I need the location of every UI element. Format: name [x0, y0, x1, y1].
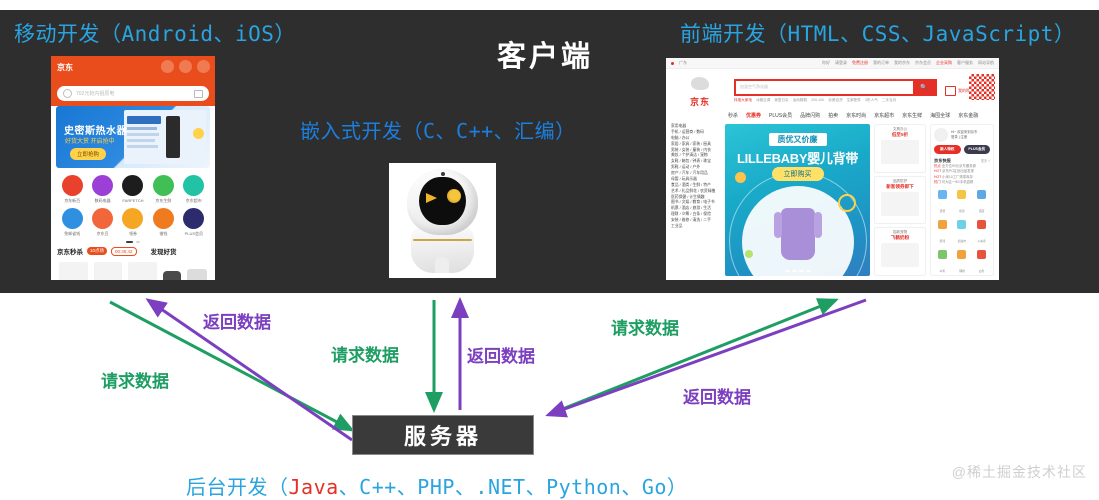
pc-nav: 秒杀 优惠券 PLUS会员 品牌闪购 拍卖 京东时尚 京东超市 京东生鲜 海囤全… [666, 112, 999, 124]
pc-brand-logo[interactable]: 京东 [674, 73, 726, 108]
pc-quick-link[interactable]: 游戏 [934, 220, 951, 247]
pc-topbar-link[interactable]: 你好 [822, 60, 830, 66]
pc-main-content: 家用电器 手机 / 运营商 / 数码 电脑 / 办公 家居 / 家具 / 家装 … [666, 124, 999, 276]
mobile-product-row: ¥49 ¥69 ¥1099 ¥2799 ¥2399 ¥3299 [51, 256, 215, 280]
pc-nav-item[interactable]: 京东超市 [874, 112, 894, 119]
mobile-category-item[interactable]: 京东新百 [57, 175, 87, 204]
pc-nav-item[interactable]: 京东金融 [958, 112, 978, 119]
mobile-search-bar[interactable]: 702元抢内祖原电 [57, 86, 209, 101]
pc-nav-item[interactable]: 京东生鲜 [902, 112, 922, 119]
pc-hot-word[interactable]: 200-100 [811, 98, 824, 103]
pc-category-item[interactable]: 工业品 [671, 224, 721, 230]
pc-hot-words: 特惠大家电 冰箱空调 家居日杂 运动鞋鞋 200-100 京美百货 生鲜配件 3… [734, 98, 937, 103]
pc-news-list: 热点 全方位90元京东服务券 HOT 京东PC区划出品发现 HOT 小米10工厂… [934, 164, 990, 186]
seckill-title: 京东秒杀 [57, 246, 83, 256]
pc-nav-item[interactable]: 拍卖 [828, 112, 838, 119]
mobile-product-card[interactable]: ¥1099 ¥2799 [94, 262, 123, 280]
mobile-app-topbar: 京东 [51, 56, 215, 82]
pc-category-item[interactable]: 艺术 / 礼品鲜花 / 农资绿植 [671, 189, 721, 195]
jd-dog-icon [685, 73, 715, 95]
banner-dot-decoration [735, 172, 746, 183]
pc-hero-banner[interactable]: 质优又价廉 LILLEBABY婴儿背带 立即购买 [725, 124, 870, 276]
robot-camera-icon [441, 172, 445, 176]
banner-buy-button[interactable]: 立即购买 [772, 167, 824, 181]
mobile-category-item[interactable]: 借钱 [148, 208, 178, 237]
mobile-product-card[interactable]: ¥49 ¥69 [59, 262, 88, 280]
pc-login-links[interactable]: 登录 | 注册 [951, 135, 967, 139]
client-title: 客户端 [497, 33, 593, 75]
pc-hot-word[interactable]: 特惠大家电 [734, 98, 752, 103]
robot-base-slit [435, 257, 449, 273]
banner-ring-decoration [838, 194, 856, 212]
robot-eye-right-icon [447, 189, 461, 203]
pc-nav-item[interactable]: PLUS会员 [769, 112, 792, 119]
mobile-category-item[interactable]: 免邮省钱 [57, 208, 87, 237]
pc-hot-word[interactable]: 二手当月 [882, 98, 896, 103]
backend-prefix: 后台开发（ [186, 475, 289, 499]
robot-eye-left-icon [426, 193, 437, 203]
pc-promo-card[interactable]: 招新宠物 飞鹤奶粉 [874, 227, 926, 276]
backend-rest: 、C++、PHP、.NET、Python、Go） [339, 475, 688, 499]
banner-product-image [781, 208, 815, 260]
backend-java: Java [289, 475, 339, 499]
backend-dev-label: 后台开发（Java、C++、PHP、.NET、Python、Go） [186, 471, 687, 500]
mobile-category-item[interactable]: 京东豆 [87, 208, 117, 237]
pc-promo-card[interactable]: 文具办公 低至5折 [874, 124, 926, 173]
pc-user-greeting: Hi~ 欢迎来到京东 登录 | 注册 [934, 128, 990, 142]
pc-topbar-link[interactable]: 企业采购 [936, 60, 952, 66]
pc-hot-word[interactable]: 运动鞋鞋 [793, 98, 807, 103]
mobile-scan-icon[interactable] [161, 60, 174, 73]
mobile-category-item[interactable]: 京东生鲜 [148, 175, 178, 204]
pc-user-buttons: 新人特权 PLUS会员 [934, 145, 990, 154]
label-mobile-request: 请求数据 [101, 367, 169, 392]
pc-header: 京东 加湿空气净化器 🔍 特惠大家电 冰箱空调 家居日杂 运动鞋鞋 200-10… [666, 69, 999, 112]
seckill-countdown: 00:35:42 [111, 247, 137, 256]
mobile-product-card[interactable]: ¥2399 ¥3299 [128, 262, 157, 280]
pc-quick-link[interactable]: 加油卡 [954, 220, 971, 247]
mobile-app-header: 京东 702元抢内祖原电 [51, 56, 215, 106]
pc-hot-word[interactable]: 3折人气 [865, 98, 878, 103]
pc-nav-item[interactable]: 优惠券 [746, 112, 761, 119]
watermark: @稀土掘金技术社区 [952, 462, 1087, 482]
mobile-category-item[interactable]: 数码电器 [87, 175, 117, 204]
plus-member-button[interactable]: PLUS会员 [964, 145, 991, 154]
pc-location[interactable]: 广东 [679, 60, 687, 66]
pc-quick-link[interactable]: 酒店 [973, 190, 990, 217]
banner-carousel-dots[interactable] [785, 270, 811, 272]
banner-tagline: 质优又价廉 [769, 133, 827, 146]
embedded-dev-label: 嵌入式开发（C、C++、汇编） [300, 115, 576, 144]
pc-topbar-link[interactable]: 我的订单 [873, 60, 889, 66]
pc-search-input[interactable]: 加湿空气净化器 [736, 84, 913, 90]
label-mobile-response: 返回数据 [203, 308, 271, 333]
mobile-category-grid-row1: 京东新百 数码电器 FARFETCH 京东生鲜 京东超市 免邮省钱 京东豆 领券… [51, 168, 215, 239]
pc-greet-text: Hi~ 欢迎来到京东 [951, 130, 977, 134]
mobile-figure-image[interactable] [187, 269, 207, 280]
mobile-message-icon[interactable] [179, 60, 192, 73]
pc-nav-item[interactable]: 京东时尚 [846, 112, 866, 119]
pc-nav-item[interactable]: 秒杀 [728, 112, 738, 119]
mobile-account-icon[interactable] [197, 60, 210, 73]
pc-promo-card[interactable]: 品质防护 新客领券即下 [874, 176, 926, 225]
cart-icon [945, 86, 956, 96]
pc-site-screenshot: 广东 你好 请登录 免费注册 我的订单 我的京东 京东会员 企业采购 客户服务 … [666, 58, 999, 280]
pc-topbar-link[interactable]: 网站导航 [978, 60, 994, 66]
pc-hot-word[interactable]: 生鲜配件 [847, 98, 861, 103]
qr-code-icon [969, 74, 995, 100]
label-frontend-request: 请求数据 [611, 314, 679, 339]
pc-hot-word[interactable]: 冰箱空调 [756, 98, 770, 103]
new-user-button[interactable]: 新人特权 [934, 145, 961, 154]
camera-icon[interactable] [194, 90, 203, 98]
pc-search-area: 加湿空气净化器 🔍 特惠大家电 冰箱空调 家居日杂 运动鞋鞋 200-100 京… [734, 79, 937, 103]
mobile-search-input[interactable]: 702元抢内祖原电 [76, 90, 194, 97]
pc-quick-link[interactable]: 众筹 [934, 250, 951, 277]
pc-category-sidebar: 家用电器 手机 / 运营商 / 数码 电脑 / 办公 家居 / 家具 / 家装 … [671, 124, 721, 276]
location-pin-icon [671, 62, 674, 65]
banner-title: LILLEBABY婴儿背带 [737, 148, 858, 167]
mobile-category-item[interactable]: 京东超市 [179, 175, 209, 204]
pc-quick-link[interactable]: 话费 [934, 190, 951, 217]
pc-hot-word[interactable]: 家居日杂 [774, 98, 788, 103]
pc-topbar-link[interactable]: 我的京东 [894, 60, 910, 66]
mobile-header-icons [161, 60, 210, 73]
label-embedded-response: 返回数据 [467, 342, 535, 367]
frontend-dev-label: 前端开发（HTML、CSS、JavaScript） [680, 18, 1075, 48]
server-label: 服务器 [404, 419, 482, 451]
server-box: 服务器 [352, 415, 534, 455]
avatar[interactable] [934, 128, 948, 142]
mobile-hero-banner[interactable]: 史密斯热水器 好货大赏 开启抢中 立即抢购 [56, 106, 210, 168]
pc-quick-link[interactable]: 机票 [954, 190, 971, 217]
mobile-app-screenshot: 京东 702元抢内祖原电 史密斯热水器 好货大赏 开启抢中 立即抢购 [51, 56, 215, 280]
pc-news-item[interactable]: 热门 可大区一5G手机尝鲜 [934, 180, 990, 185]
pc-quick-links-grid: 话费 机票 酒店 游戏 加油卡 火车票 众筹 理财 白条 电影票 金融 礼品卡 [934, 190, 990, 280]
pc-news-more[interactable]: 更多 > [981, 158, 990, 163]
embedded-robot-image [389, 163, 496, 278]
mobile-dev-label: 移动开发（Android、iOS） [14, 18, 296, 48]
mobile-banner-tag-icon [193, 128, 204, 139]
mobile-carousel-dots[interactable] [51, 241, 215, 243]
search-icon [63, 89, 72, 98]
label-frontend-response: 返回数据 [683, 383, 751, 408]
mobile-speaker-image[interactable] [163, 271, 181, 280]
pc-topbar-link[interactable]: 免费注册 [852, 60, 868, 66]
pc-search-button[interactable]: 🔍 [913, 81, 935, 94]
pc-topbar-link[interactable]: 京东会员 [915, 60, 931, 66]
robot-gold-band [413, 239, 472, 241]
pc-quick-link[interactable]: 白条 [973, 250, 990, 277]
pc-promo-column: 文具办公 低至5折 品质防护 新客领券即下 招新宠物 飞鹤奶粉 [874, 124, 926, 276]
pc-search-bar[interactable]: 加湿空气净化器 🔍 [734, 79, 937, 96]
pc-nav-item[interactable]: 海囤全球 [930, 112, 950, 119]
mobile-category-item[interactable]: FARFETCH [118, 175, 148, 204]
mobile-banner-button[interactable]: 立即抢购 [70, 148, 106, 160]
pc-quick-link[interactable]: 理财 [954, 250, 971, 277]
mobile-category-item[interactable]: 领券 [118, 208, 148, 237]
architecture-diagram: 移动开发（Android、iOS） 前端开发（HTML、CSS、JavaScri… [0, 0, 1099, 500]
pc-nav-item[interactable]: 品牌闪购 [800, 112, 820, 119]
seckill-badge: 10点场 [87, 247, 107, 255]
pc-brand-text: 京东 [674, 95, 726, 108]
banner-dot-decoration [745, 250, 753, 258]
pc-topbar-link[interactable]: 客户服务 [957, 60, 973, 66]
discover-title: 发现好货 [151, 246, 177, 256]
mobile-banner-title: 史密斯热水器 [64, 122, 127, 137]
pc-quick-link[interactable]: 火车票 [973, 220, 990, 247]
pc-hot-word[interactable]: 京美百货 [828, 98, 842, 103]
mobile-banner-subtitle: 好货大赏 开启抢中 [65, 136, 115, 145]
pc-user-panel: Hi~ 欢迎来到京东 登录 | 注册 新人特权 PLUS会员 京东快报 更多 >… [930, 124, 994, 276]
mobile-brand-logo: 京东 [57, 62, 73, 73]
label-embedded-request: 请求数据 [331, 341, 399, 366]
mobile-category-item[interactable]: PLUS会员 [179, 208, 209, 237]
mobile-section-header: 京东秒杀 10点场 00:35:42 发现好货 [51, 246, 215, 256]
pc-topbar: 广东 你好 请登录 免费注册 我的订单 我的京东 京东会员 企业采购 客户服务 … [666, 58, 999, 69]
pc-topbar-link[interactable]: 请登录 [835, 60, 847, 66]
